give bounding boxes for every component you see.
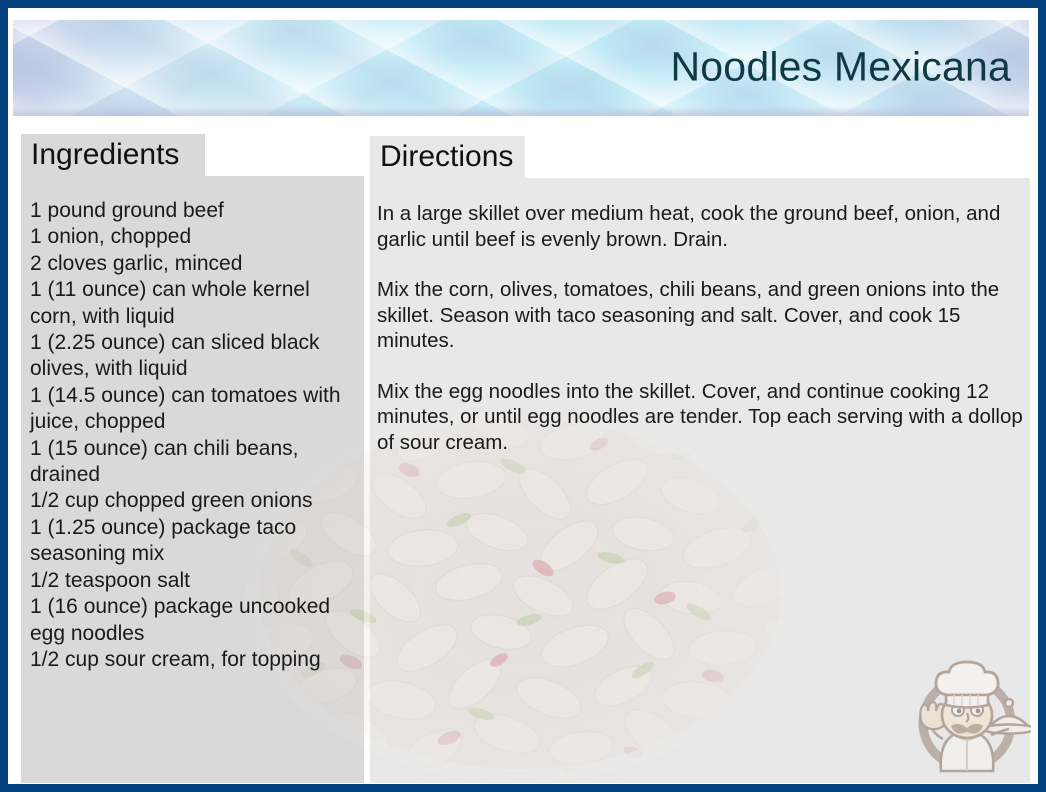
ingredient-item: 1 onion, chopped [30,224,360,250]
ingredients-section-header: Ingredients [21,134,205,176]
ingredient-item: 1 pound ground beef [30,198,360,224]
page-title: Noodles Mexicana [671,47,1012,88]
ingredient-item: 1/2 teaspoon salt [30,568,360,594]
directions-steps: In a large skillet over medium heat, coo… [377,201,1027,480]
ingredient-item: 1 (15 ounce) can chili beans, drained [30,436,360,489]
header-banner: Noodles Mexicana [13,20,1029,116]
ingredient-item: 1 (16 ounce) package uncooked egg noodle… [30,594,360,647]
directions-section-header: Directions [370,136,525,178]
ingredient-item: 1 (11 ounce) can whole kernel corn, with… [30,277,360,330]
chef-mascot-logo [903,653,1031,781]
ingredient-item: 2 cloves garlic, minced [30,251,360,277]
recipe-card: Noodles Mexicana Ingredients Directions [0,0,1046,792]
direction-step: Mix the corn, olives, tomatoes, chili be… [377,277,1027,354]
ingredient-item: 1/2 cup sour cream, for topping [30,647,360,673]
ingredients-list: 1 pound ground beef 1 onion, chopped 2 c… [30,198,360,673]
direction-step: Mix the egg noodles into the skillet. Co… [377,379,1027,456]
ingredient-item: 1 (14.5 ounce) can tomatoes with juice, … [30,383,360,436]
direction-step: In a large skillet over medium heat, coo… [377,201,1027,252]
ingredient-item: 1/2 cup chopped green onions [30,488,360,514]
ingredient-item: 1 (1.25 ounce) package taco seasoning mi… [30,515,360,568]
ingredient-item: 1 (2.25 ounce) can sliced black olives, … [30,330,360,383]
